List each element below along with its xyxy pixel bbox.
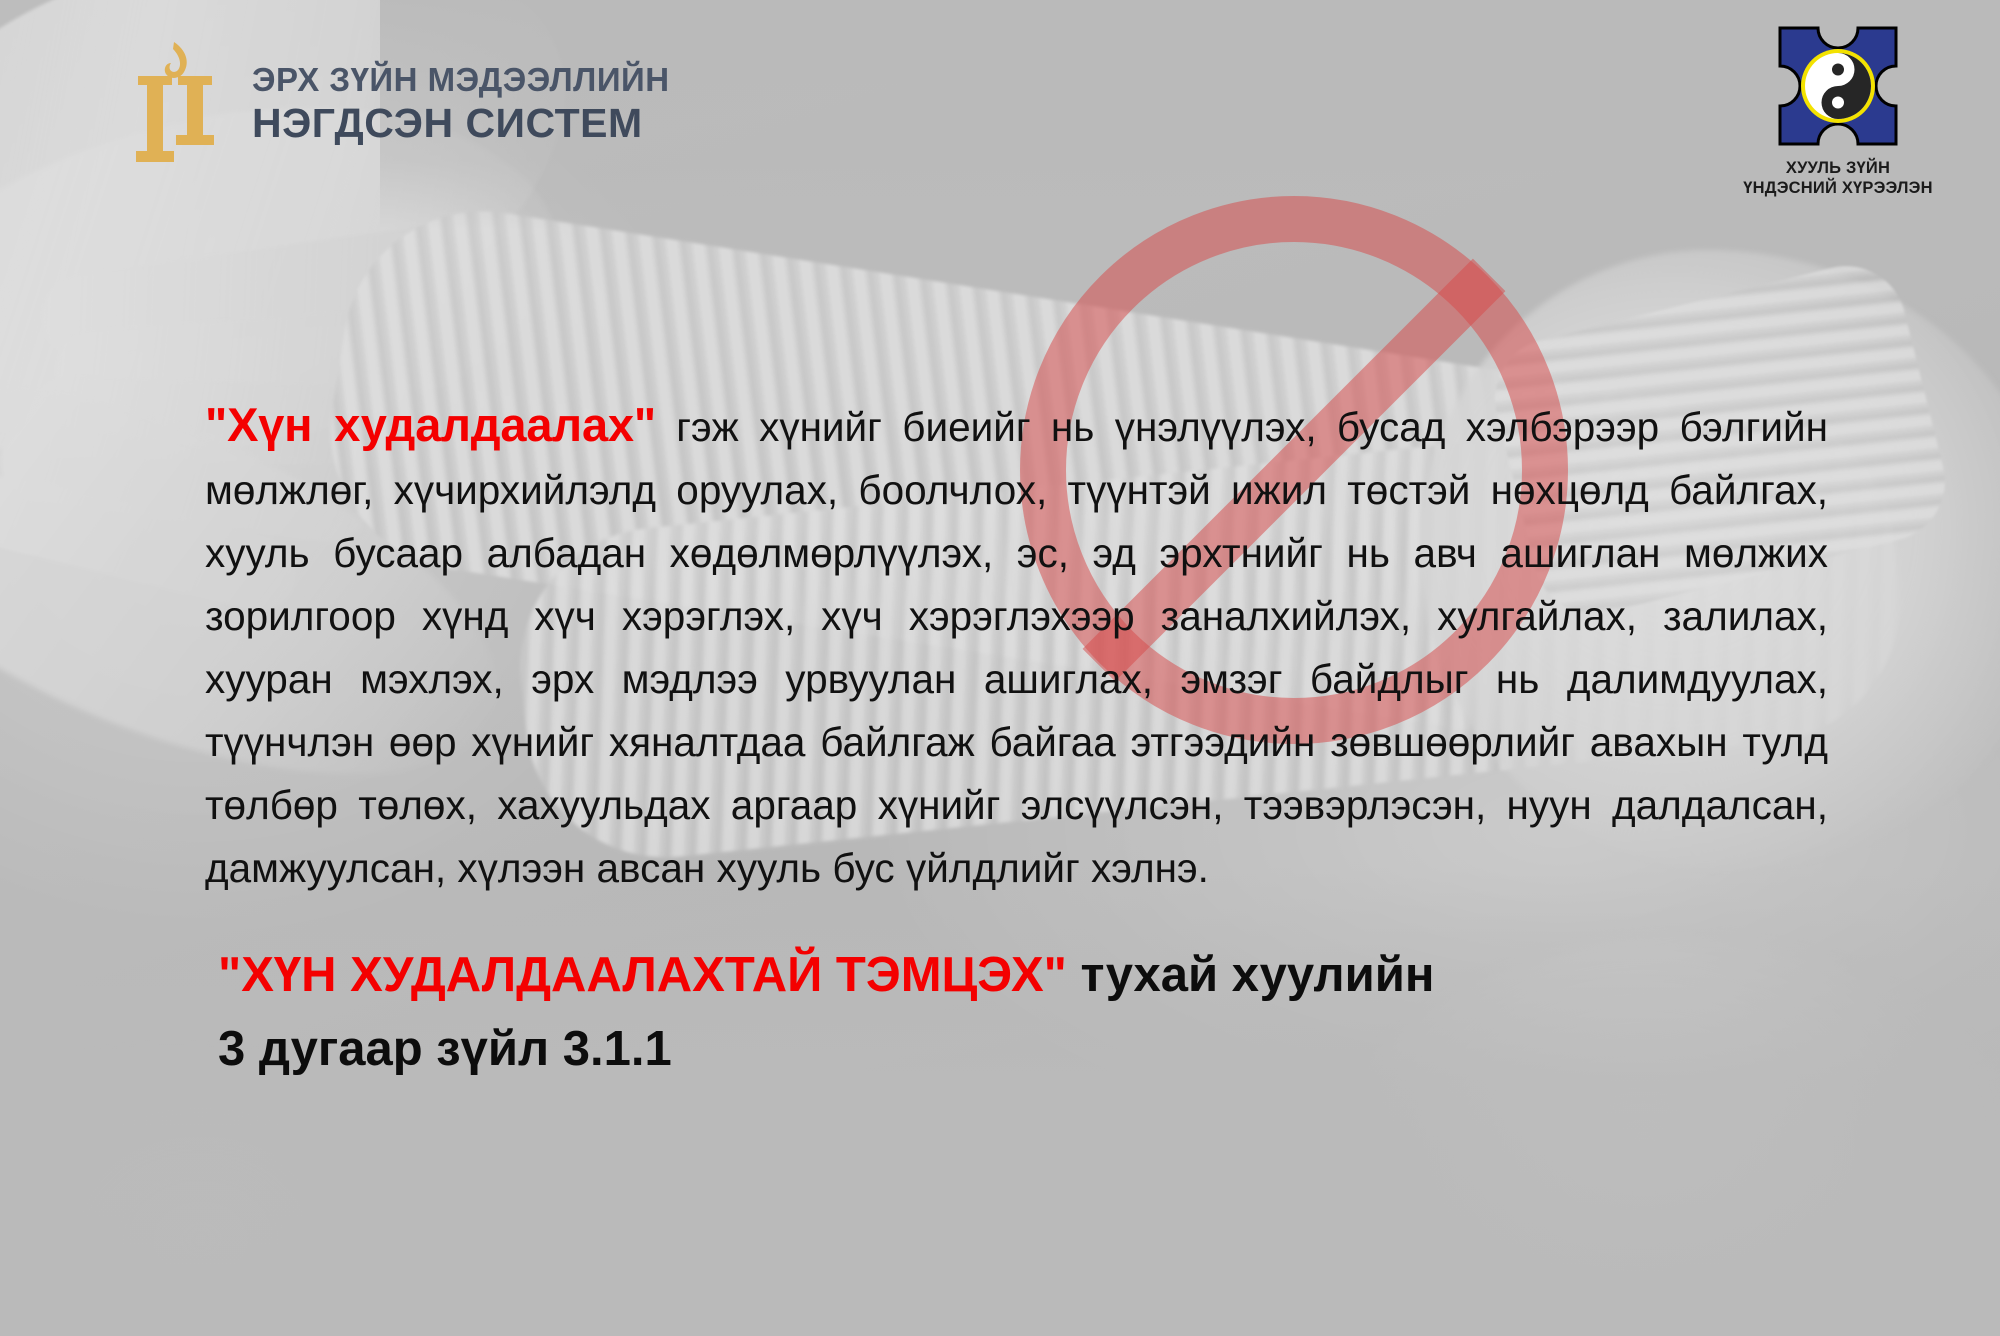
law-reference: "ХҮН ХУДАЛДААЛАХТАЙ ТЭМЦЭХ" тухай хуулий… — [218, 938, 1858, 1086]
brand-text: ЭРХ ЗҮЙН МЭДЭЭЛЛИЙН НЭГДСЭН СИСТЕМ — [252, 63, 670, 144]
institute-logo: ХУУЛЬ ЗҮЙН ҮНДЭСНИЙ ХҮРЭЭЛЭН — [1718, 22, 1958, 198]
definition-body: гэж хүнийг биеийг нь үнэлүүлэх, бусад хэ… — [205, 404, 1828, 891]
soyombo-pillar-icon — [128, 36, 224, 172]
poster-canvas: ЭРХ ЗҮЙН МЭДЭЭЛЛИЙН НЭГДСЭН СИСТЕМ ХУУЛЬ… — [0, 0, 2000, 1336]
brand-logo: ЭРХ ЗҮЙН МЭДЭЭЛЛИЙН НЭГДСЭН СИСТЕМ — [128, 36, 670, 172]
definition-term: "Хүн худалдаалах" — [205, 398, 656, 451]
brand-line-2: НЭГДСЭН СИСТЕМ — [252, 103, 670, 145]
definition-paragraph: "Хүн худалдаалах" гэж хүнийг биеийг нь ү… — [205, 393, 1828, 900]
institute-name: ХУУЛЬ ЗҮЙН ҮНДЭСНИЙ ХҮРЭЭЛЭН — [1718, 158, 1958, 198]
puzzle-yinyang-icon — [1774, 22, 1902, 150]
background-wash-bottom — [0, 866, 2000, 1336]
institute-name-line-2: ҮНДЭСНИЙ ХҮРЭЭЛЭН — [1718, 178, 1958, 198]
law-suffix: тухай хуулийн — [1067, 948, 1435, 1002]
institute-name-line-1: ХУУЛЬ ЗҮЙН — [1718, 158, 1958, 178]
law-title: "ХҮН ХУДАЛДААЛАХТАЙ ТЭМЦЭХ" — [218, 948, 1067, 1002]
law-article: 3 дугаар зүйл 3.1.1 — [218, 1012, 1858, 1086]
brand-line-1: ЭРХ ЗҮЙН МЭДЭЭЛЛИЙН — [252, 63, 670, 97]
